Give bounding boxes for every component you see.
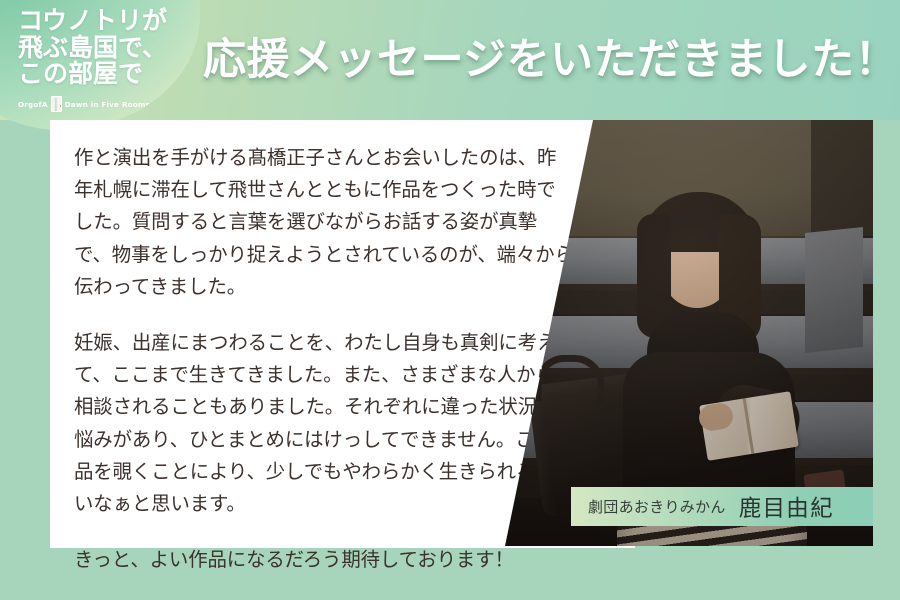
credit-person: 鹿目由紀 <box>739 491 834 523</box>
credit-company: 劇団あおきりみかん <box>588 496 726 517</box>
photo-credit-badge: 劇団あおきりみかん 鹿目由紀 <box>571 487 873 526</box>
logo-subtitle-left: OrgofA <box>18 100 48 109</box>
logo-badge: コウノトリが 飛ぶ島国で、 この部屋で OrgofA Dawn in Five … <box>0 0 200 130</box>
logo-title-line-1: コウノトリが <box>18 8 188 35</box>
logo-title: コウノトリが 飛ぶ島国で、 この部屋で <box>18 8 188 88</box>
logo-subtitle-right: Dawn in Five Rooms <box>65 100 150 109</box>
logo-subtitle: OrgofA Dawn in Five Rooms <box>18 95 193 113</box>
logo-title-line-3: この部屋で <box>18 61 188 88</box>
logo-title-line-2: 飛ぶ島国で、 <box>18 35 188 62</box>
logo-content: コウノトリが 飛ぶ島国で、 この部屋で OrgofA Dawn in Five … <box>0 0 200 130</box>
page-title: 応援メッセージをいただきました！ <box>203 32 863 90</box>
message-paragraph-3: きっと、よい作品になるだろう期待しております！ <box>74 544 574 576</box>
message-paragraph-1: 作と演出を手がける髙橋正子さんとお会いしたのは、昨年札幌に滞在して飛世さんととも… <box>74 142 574 303</box>
door-icon <box>51 96 62 112</box>
message-paragraph-2: 妊娠、出産にまつわることを、わたし自身も真剣に考えて、ここまで生きてきました。ま… <box>74 327 574 520</box>
poster-canvas: 応援メッセージをいただきました！ コウノトリが 飛ぶ島国で、 この部屋で Org… <box>0 0 900 600</box>
message-body: 作と演出を手がける髙橋正子さんとお会いしたのは、昨年札幌に滞在して飛世さんととも… <box>74 142 574 576</box>
